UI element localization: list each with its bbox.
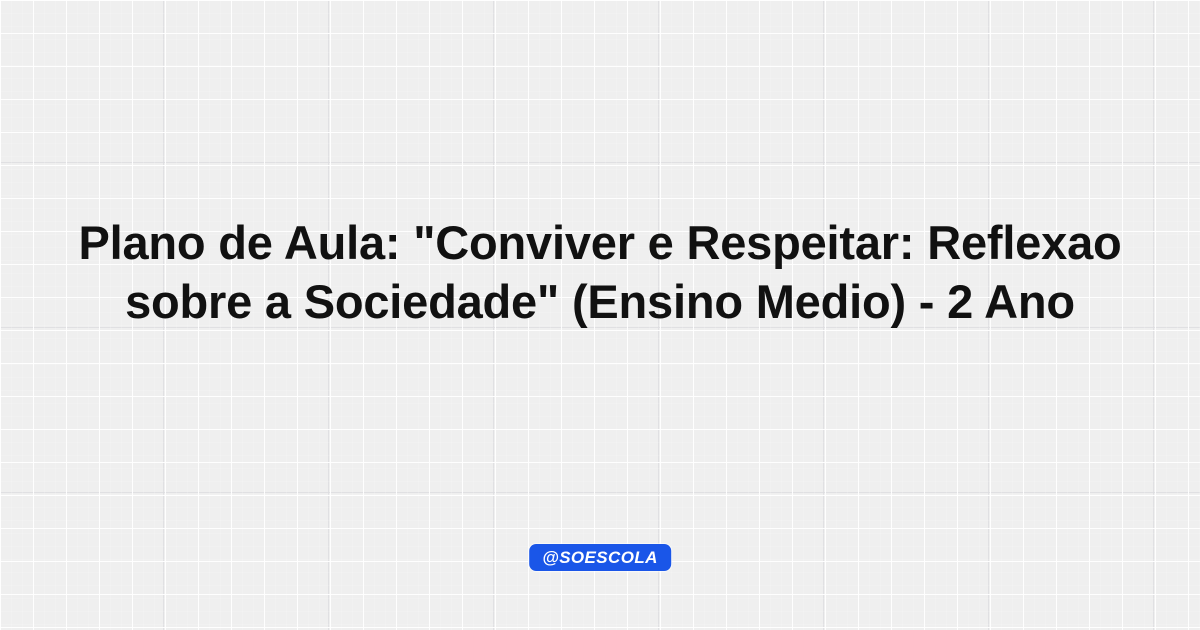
watermark-badge: @SOESCOLA <box>529 544 671 571</box>
social-card: Plano de Aula: "Conviver e Respeitar: Re… <box>0 0 1200 630</box>
watermark-label: @SOESCOLA <box>542 549 658 566</box>
page-title: Plano de Aula: "Conviver e Respeitar: Re… <box>0 213 1200 331</box>
card-content: Plano de Aula: "Conviver e Respeitar: Re… <box>0 0 1200 630</box>
